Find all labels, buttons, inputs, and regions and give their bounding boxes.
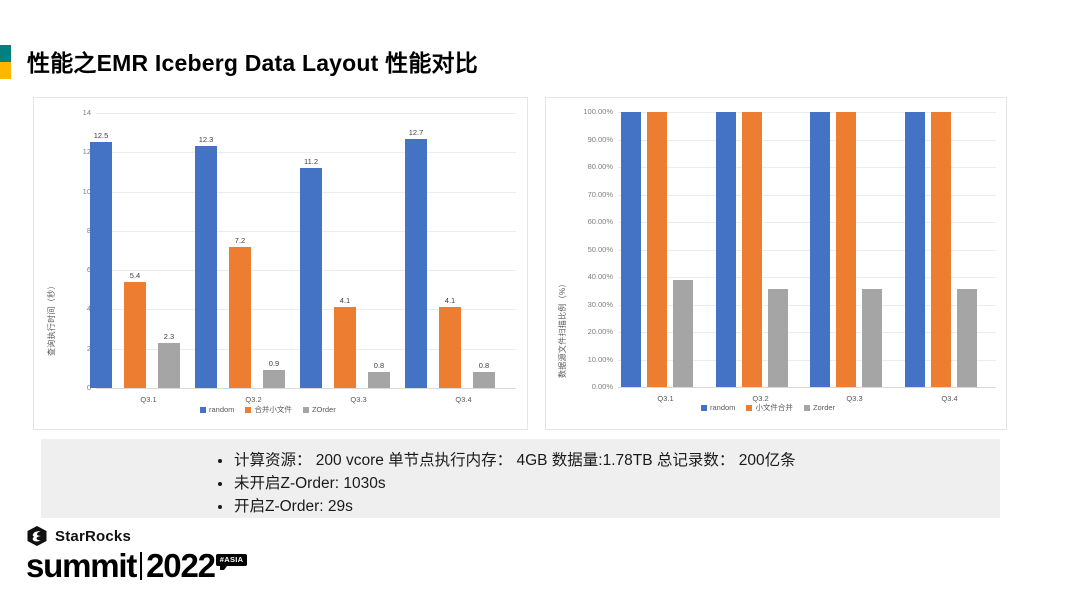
bar-random-Q3.3 — [810, 112, 830, 387]
chart-panel-query-time: 查询执行时间（秒） 1412108642012.55.42.3Q3.112.37… — [33, 97, 528, 430]
bar-Zorder-Q3.2 — [768, 289, 788, 387]
y-axis-tick-label: 50.00% — [570, 246, 613, 254]
bar-random-Q3.1 — [621, 112, 641, 387]
bar-value-label: 12.5 — [80, 131, 122, 140]
legend-item-小文件合并: 小文件合并 — [746, 402, 793, 413]
right-chart-plot-area: 100.00%90.00%80.00%70.00%60.00%50.00%40.… — [546, 98, 1006, 429]
bar-value-label: 4.1 — [324, 296, 366, 305]
x-axis-tick-label: Q3.3 — [306, 395, 411, 404]
summit-word: summit — [26, 549, 136, 583]
y-axis-tick-label: 0 — [48, 384, 91, 392]
legend-swatch — [701, 405, 707, 411]
slide-root: 性能之EMR Iceberg Data Layout 性能对比 查询执行时间（秒… — [0, 0, 1080, 608]
y-axis-tick-label: 70.00% — [570, 191, 613, 199]
accent-amber — [0, 62, 11, 79]
legend-swatch — [200, 407, 206, 413]
y-axis-tick-label: 60.00% — [570, 218, 613, 226]
legend-label: ZOrder — [312, 405, 336, 414]
bar-合并小文件-Q3.3 — [334, 307, 356, 388]
brand-row: StarRocks — [26, 525, 247, 547]
notes-item: 开启Z-Order: 29s — [216, 495, 1000, 518]
legend-item-random: random — [200, 405, 234, 414]
bar-小文件合并-Q3.1 — [647, 112, 667, 387]
notes-list: 计算资源： 200 vcore 单节点执行内存： 4GB 数据量:1.78TB … — [41, 439, 1000, 518]
asia-badge: #ASIA — [216, 554, 248, 566]
notes-item: 计算资源： 200 vcore 单节点执行内存： 4GB 数据量:1.78TB … — [216, 449, 1000, 472]
gridline — [96, 152, 516, 153]
x-axis-tick-label: Q3.1 — [618, 394, 713, 403]
y-axis-tick-label: 90.00% — [570, 136, 613, 144]
bar-Zorder-Q3.1 — [673, 280, 693, 387]
y-axis-tick-label: 12 — [48, 148, 91, 156]
legend-swatch — [746, 405, 752, 411]
x-axis-tick-label: Q3.2 — [201, 395, 306, 404]
y-axis-tick-label: 6 — [48, 266, 91, 274]
y-axis-tick-label: 10.00% — [570, 356, 613, 364]
bar-random-Q3.3 — [300, 168, 322, 388]
bar-value-label: 4.1 — [429, 296, 471, 305]
y-axis-tick-label: 0.00% — [570, 383, 613, 391]
bar-random-Q3.2 — [195, 146, 217, 388]
y-axis-tick-label: 30.00% — [570, 301, 613, 309]
legend-swatch — [245, 407, 251, 413]
page-title: 性能之EMR Iceberg Data Layout 性能对比 — [27, 44, 478, 78]
bar-Zorder-Q3.4 — [957, 289, 977, 387]
bar-合并小文件-Q3.1 — [124, 282, 146, 388]
notes-item: 未开启Z-Order: 1030s — [216, 472, 1000, 495]
x-axis-tick-label: Q3.4 — [902, 394, 997, 403]
bar-value-label: 11.2 — [290, 157, 332, 166]
bar-random-Q3.4 — [405, 139, 427, 388]
footer-logo: StarRocks summit 2022 #ASIA — [26, 525, 247, 583]
bar-合并小文件-Q3.2 — [229, 247, 251, 388]
bar-value-label: 0.8 — [463, 361, 505, 370]
legend-swatch — [804, 405, 810, 411]
brand-name: StarRocks — [55, 528, 131, 545]
summit-divider — [140, 552, 142, 580]
legend-swatch — [303, 407, 309, 413]
y-axis-tick-label: 8 — [48, 227, 91, 235]
bar-Zorder-Q3.3 — [862, 289, 882, 387]
legend-item-Zorder: Zorder — [804, 403, 835, 412]
y-axis-tick-label: 4 — [48, 305, 91, 313]
legend-label: random — [209, 405, 234, 414]
accent-teal — [0, 45, 11, 62]
left-chart-legend: random合并小文件ZOrder — [200, 404, 336, 415]
y-axis-tick-label: 100.00% — [570, 108, 613, 116]
legend-label: Zorder — [813, 403, 835, 412]
bar-ZOrder-Q3.2 — [263, 370, 285, 388]
x-axis-line — [96, 388, 516, 389]
starrocks-logo-icon — [26, 525, 48, 547]
bar-ZOrder-Q3.4 — [473, 372, 495, 388]
y-axis-tick-label: 14 — [48, 109, 91, 117]
legend-label: 小文件合并 — [755, 402, 793, 413]
left-chart-plot-area: 1412108642012.55.42.3Q3.112.37.20.9Q3.21… — [34, 98, 527, 429]
y-axis-tick-label: 20.00% — [570, 328, 613, 336]
y-axis-tick-label: 2 — [48, 345, 91, 353]
notes-box: 计算资源： 200 vcore 单节点执行内存： 4GB 数据量:1.78TB … — [41, 439, 1000, 518]
bar-value-label: 0.9 — [253, 359, 295, 368]
bar-value-label: 5.4 — [114, 271, 156, 280]
legend-label: 合并小文件 — [254, 404, 292, 415]
bar-value-label: 12.7 — [395, 128, 437, 137]
x-axis-tick-label: Q3.4 — [411, 395, 516, 404]
legend-label: random — [710, 403, 735, 412]
y-axis-tick-label: 80.00% — [570, 163, 613, 171]
bar-ZOrder-Q3.1 — [158, 343, 180, 388]
right-chart-legend: random小文件合并Zorder — [701, 402, 835, 413]
title-accent-bar — [0, 45, 11, 79]
legend-item-random: random — [701, 403, 735, 412]
bar-value-label: 0.8 — [358, 361, 400, 370]
bar-value-label: 2.3 — [148, 332, 190, 341]
y-axis-tick-label: 40.00% — [570, 273, 613, 281]
bar-合并小文件-Q3.4 — [439, 307, 461, 388]
gridline — [96, 113, 516, 114]
bar-小文件合并-Q3.3 — [836, 112, 856, 387]
legend-item-ZOrder: ZOrder — [303, 405, 336, 414]
bar-random-Q3.1 — [90, 142, 112, 388]
chart-panel-scan-ratio: 数据源文件扫描比例（%） 100.00%90.00%80.00%70.00%60… — [545, 97, 1007, 430]
legend-item-合并小文件: 合并小文件 — [245, 404, 292, 415]
bar-小文件合并-Q3.2 — [742, 112, 762, 387]
bar-random-Q3.4 — [905, 112, 925, 387]
bar-小文件合并-Q3.4 — [931, 112, 951, 387]
bar-random-Q3.2 — [716, 112, 736, 387]
summit-year: 2022 — [146, 549, 215, 583]
summit-row: summit 2022 #ASIA — [26, 549, 247, 583]
x-axis-line — [618, 387, 996, 388]
x-axis-tick-label: Q3.1 — [96, 395, 201, 404]
y-axis-tick-label: 10 — [48, 188, 91, 196]
bar-value-label: 12.3 — [185, 135, 227, 144]
bar-ZOrder-Q3.3 — [368, 372, 390, 388]
bar-value-label: 7.2 — [219, 236, 261, 245]
